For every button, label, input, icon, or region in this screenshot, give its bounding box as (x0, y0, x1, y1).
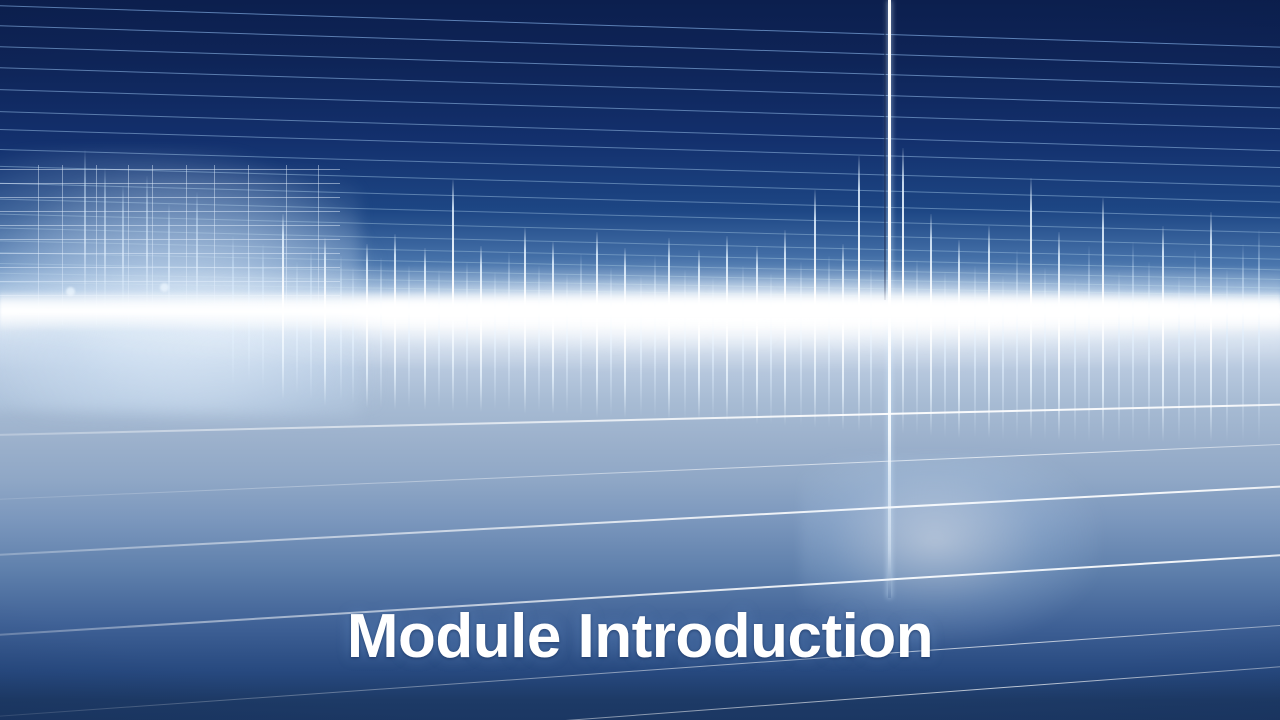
title-container: Module Introduction (0, 604, 1280, 669)
slide-title: Module Introduction (347, 604, 933, 669)
presentation-slide: Module Introduction (0, 0, 1280, 720)
